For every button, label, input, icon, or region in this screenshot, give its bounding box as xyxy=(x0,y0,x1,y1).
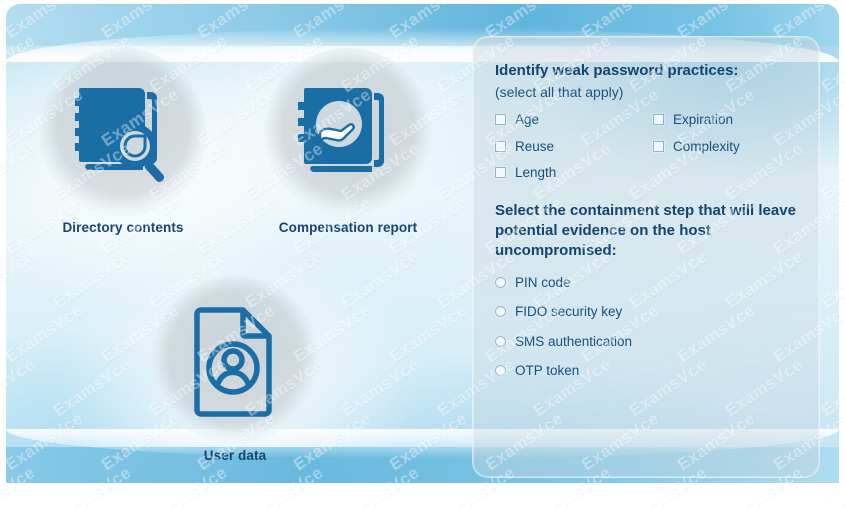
artifact-label: Directory contents xyxy=(33,220,213,235)
checkbox-icon[interactable] xyxy=(495,167,506,178)
checkbox-option-age[interactable]: Age xyxy=(495,113,653,127)
question-panel: Identify weak password practices: (selec… xyxy=(472,36,820,478)
checkbox-icon[interactable] xyxy=(653,114,664,125)
icon-halo xyxy=(264,48,432,216)
option-label: FIDO security key xyxy=(515,305,622,319)
question-1-block: Identify weak password practices: (selec… xyxy=(495,61,797,179)
document-person-icon xyxy=(187,302,283,418)
option-label: Reuse xyxy=(515,140,554,154)
option-label: Age xyxy=(515,113,539,127)
bottom-white-strip xyxy=(6,483,839,499)
radio-icon[interactable] xyxy=(495,336,506,347)
option-label: Expiration xyxy=(673,113,733,127)
address-book-search-icon xyxy=(67,80,179,184)
question-2-options: PIN code FIDO security key SMS authentic… xyxy=(495,275,797,377)
notebook-hand-icon xyxy=(294,80,402,184)
radio-icon[interactable] xyxy=(495,277,506,288)
icon-halo xyxy=(151,276,319,444)
exam-simulation-screen: Directory contents Compensation report xyxy=(0,0,845,507)
artifact-tile-user-data[interactable]: User data xyxy=(145,276,325,463)
icon-halo xyxy=(39,48,207,216)
radio-option-fido-security-key[interactable]: FIDO security key xyxy=(495,305,797,319)
checkbox-option-length[interactable]: Length xyxy=(495,166,653,180)
radio-option-otp-token[interactable]: OTP token xyxy=(495,364,797,378)
radio-option-sms-authentication[interactable]: SMS authentication xyxy=(495,334,797,348)
checkbox-option-complexity[interactable]: Complexity xyxy=(653,139,797,153)
question-1-title: Identify weak password practices: xyxy=(495,61,797,81)
checkbox-option-reuse[interactable]: Reuse xyxy=(495,139,653,153)
artifact-label: User data xyxy=(145,448,325,463)
radio-option-pin-code[interactable]: PIN code xyxy=(495,275,797,289)
artifact-tile-directory-contents[interactable]: Directory contents xyxy=(33,48,213,235)
option-label: OTP token xyxy=(515,364,579,378)
option-label: SMS authentication xyxy=(515,335,632,349)
artifact-label: Compensation report xyxy=(258,220,438,235)
question-2-title: Select the containment step that will le… xyxy=(495,201,797,261)
checkbox-icon[interactable] xyxy=(495,114,506,125)
checkbox-option-expiration[interactable]: Expiration xyxy=(653,113,797,127)
option-label: Length xyxy=(515,166,556,180)
artifact-tile-compensation-report[interactable]: Compensation report xyxy=(258,48,438,235)
radio-icon[interactable] xyxy=(495,365,506,376)
checkbox-icon[interactable] xyxy=(495,141,506,152)
option-label: PIN code xyxy=(515,276,571,290)
checkbox-icon[interactable] xyxy=(653,141,664,152)
option-label: Complexity xyxy=(673,140,740,154)
radio-icon[interactable] xyxy=(495,306,506,317)
question-1-subtitle: (select all that apply) xyxy=(495,84,797,100)
question-1-options: Age Expiration Reuse Complexity Length xyxy=(495,113,797,180)
question-2-block: Select the containment step that will le… xyxy=(495,201,797,377)
